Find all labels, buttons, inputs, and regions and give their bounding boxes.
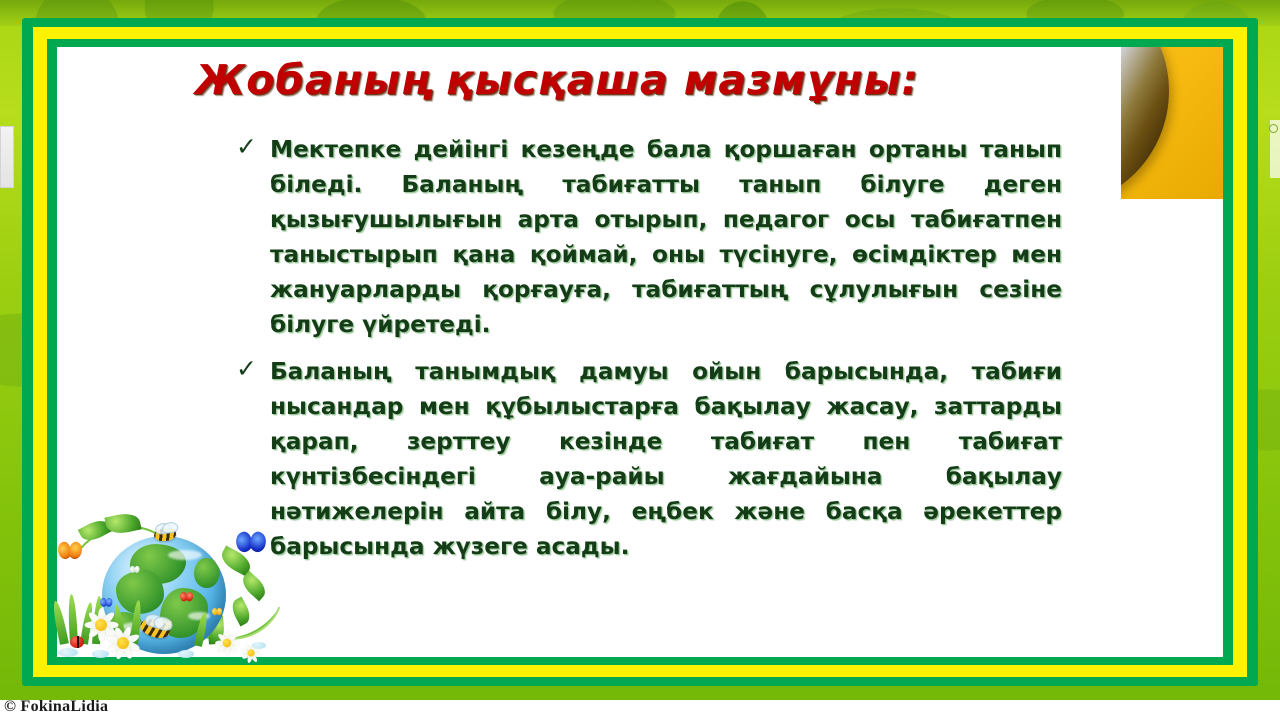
earth-nature-illustration: [44, 508, 302, 658]
pebble-icon: [178, 650, 194, 658]
cloud-icon: [188, 612, 210, 620]
copyright-watermark: © FokinaLidia: [4, 698, 108, 716]
daisy-flower-icon: [106, 626, 140, 660]
bullet-text: Баланың танымдық дамуы ойын барысында, т…: [270, 354, 1062, 564]
check-icon: ✓: [236, 132, 270, 160]
grass-icon: [51, 600, 69, 645]
check-icon: ✓: [236, 354, 270, 382]
cloud-icon: [168, 550, 202, 560]
pebble-icon: [92, 650, 109, 658]
globe-landmass: [194, 558, 220, 588]
left-edge-artifact: [0, 126, 14, 188]
daisy-flower-icon: [215, 631, 239, 655]
bullet-item: ✓ Баланың танымдық дамуы ойын барысында,…: [236, 354, 1062, 564]
ladybug-icon: [70, 636, 84, 648]
pebble-icon: [252, 642, 266, 649]
right-edge-dot-icon: [1269, 124, 1278, 133]
page-title: Жобаның қысқаша мазмұны:: [57, 56, 1057, 104]
pebble-icon: [58, 648, 78, 657]
body-content: ✓ Мектепке дейінгі кезеңде бала қоршаған…: [236, 132, 1062, 576]
bullet-item: ✓ Мектепке дейінгі кезеңде бала қоршаған…: [236, 132, 1062, 342]
slide: Жобаның қысқаша мазмұны: ✓ Мектепке дейі…: [0, 0, 1280, 720]
bullet-text: Мектепке дейінгі кезеңде бала қоршаған о…: [270, 132, 1062, 342]
